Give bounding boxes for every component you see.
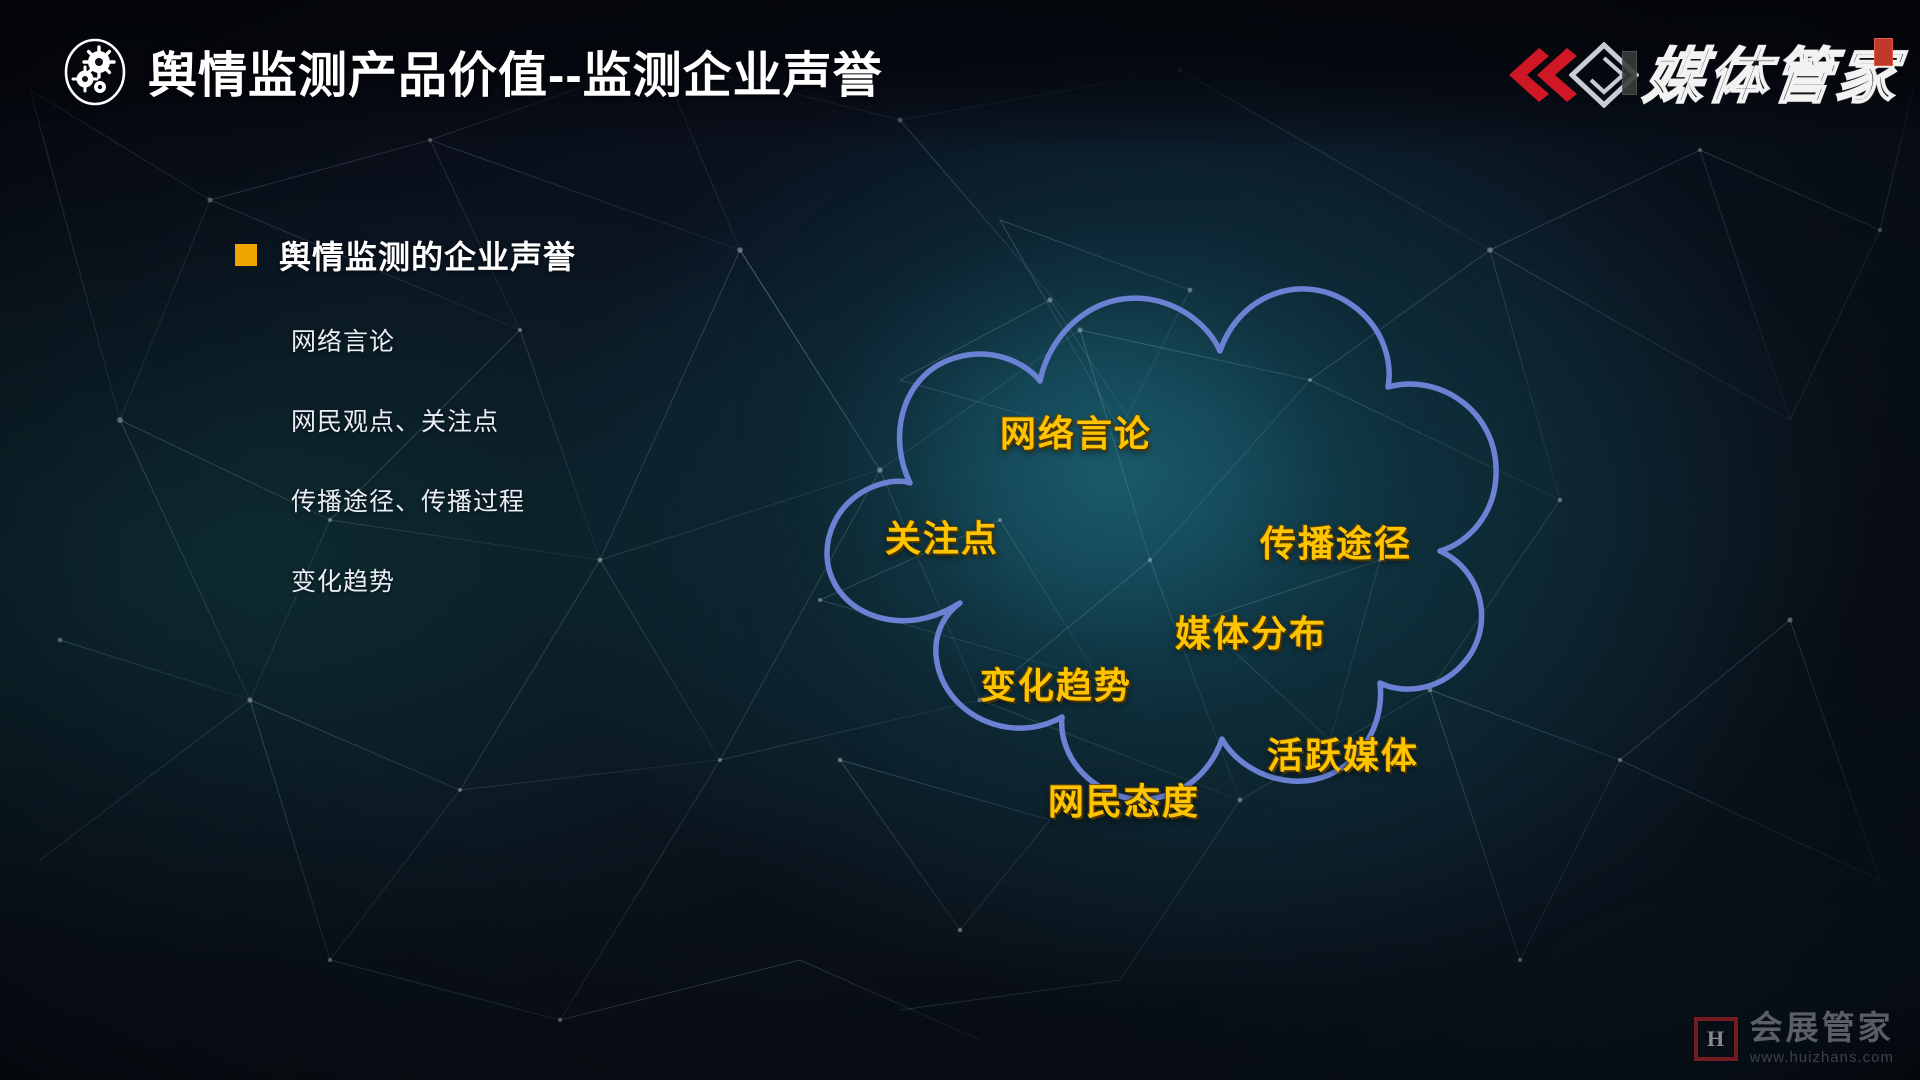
cloud-diagram: 网络言论 关注点 传播途径 媒体分布 变化趋势 活跃媒体 网民态度 [800, 165, 1540, 855]
cloud-label: 关注点 [885, 510, 999, 562]
lead-heading-text: 舆情监测的企业声誉 [279, 232, 576, 278]
sub-item-list: 网络言论 网民观点、关注点 传播途径、传播过程 变化趋势 [235, 322, 755, 598]
logo-brand-text: 媒体管家 [1640, 28, 1907, 115]
h-badge-letter: H [1707, 1028, 1724, 1050]
page-title: 舆情监测产品价值--监测企业声誉 [148, 36, 883, 107]
watermark-url: www.huizhans.com [1750, 1049, 1894, 1066]
slide-header: 舆情监测产品价值--监测企业声誉 媒体管家 [0, 0, 1920, 140]
cloud-label: 变化趋势 [980, 657, 1132, 709]
cloud-label: 媒体分布 [1175, 605, 1327, 657]
watermark: H 会展管家 www.huizhans.com [1694, 1011, 1894, 1066]
watermark-title: 会展管家 [1750, 1011, 1894, 1044]
cloud-label: 传播途径 [1260, 515, 1412, 567]
logo-seal-block [1623, 52, 1636, 94]
list-item: 网民观点、关注点 [291, 402, 755, 438]
square-bullet-icon [235, 244, 257, 266]
list-item: 变化趋势 [291, 562, 755, 598]
double-chevron-left-icon [1505, 46, 1577, 104]
cloud-label: 活跃媒体 [1267, 727, 1419, 779]
h-badge-icon: H [1694, 1017, 1738, 1061]
gears-in-circle-icon [63, 38, 127, 106]
brand-logo: 媒体管家 [1505, 22, 1895, 122]
cloud-label: 网络言论 [1000, 405, 1152, 457]
list-item: 网络言论 [291, 322, 755, 358]
slide-canvas: 舆情监测产品价值--监测企业声誉 媒体管家 舆情监测的企业声誉 网络言论 网民观… [0, 0, 1920, 1080]
cloud-label: 网民态度 [1048, 773, 1200, 825]
content-left-block: 舆情监测的企业声誉 网络言论 网民观点、关注点 传播途径、传播过程 变化趋势 [235, 232, 755, 598]
list-item: 传播途径、传播过程 [291, 482, 755, 518]
red-seal-icon [1874, 38, 1893, 66]
lead-heading-row: 舆情监测的企业声誉 [235, 232, 755, 278]
watermark-text-group: 会展管家 www.huizhans.com [1750, 1011, 1894, 1066]
